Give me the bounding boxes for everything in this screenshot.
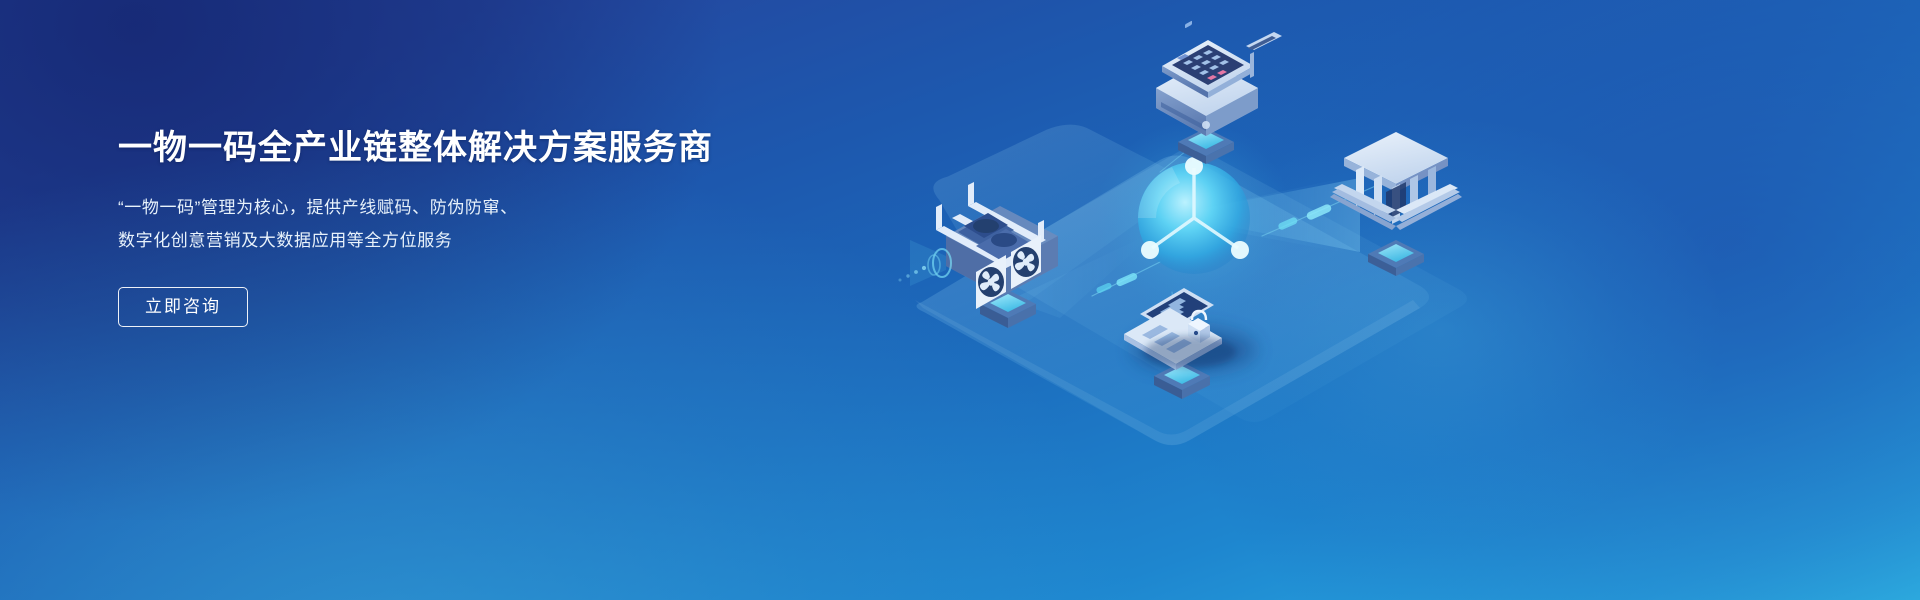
hero-banner: 一物一码全产业链整体解决方案服务商 “一物一码”管理为核心，提供产线赋码、防伪防… bbox=[0, 0, 1920, 600]
hero-subtitle: “一物一码”管理为核心，提供产线赋码、防伪防窜、 数字化创意营销及大数据应用等全… bbox=[118, 191, 738, 257]
subtitle-line-2: 数字化创意营销及大数据应用等全方位服务 bbox=[118, 224, 738, 257]
background-glow-center bbox=[1160, 120, 1720, 540]
hero-copy: 一物一码全产业链整体解决方案服务商 “一物一码”管理为核心，提供产线赋码、防伪防… bbox=[118, 128, 738, 327]
page-title: 一物一码全产业链整体解决方案服务商 bbox=[118, 128, 738, 169]
subtitle-line-1: “一物一码”管理为核心，提供产线赋码、防伪防窜、 bbox=[118, 191, 738, 224]
consult-now-button[interactable]: 立即咨询 bbox=[118, 287, 248, 327]
